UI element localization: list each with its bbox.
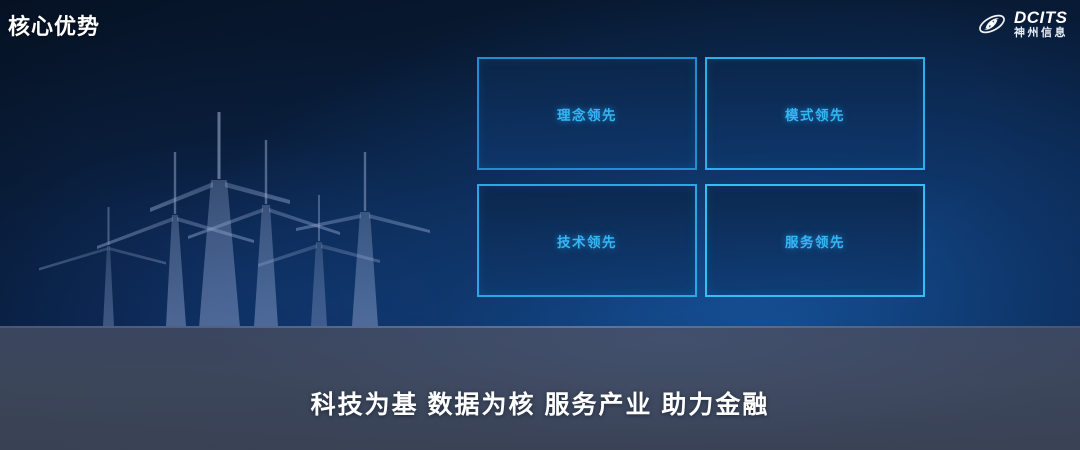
- advantage-card-4[interactable]: 服务领先: [705, 184, 925, 297]
- dcits-swoosh-icon: [977, 11, 1007, 37]
- brand-logo: DCITS 神州信息: [977, 9, 1068, 39]
- slide-root: 核心优势 DCITS 神州信息 理念领先 模式领先 技术领先 服务领先 科技为基…: [0, 0, 1080, 450]
- advantage-card-1[interactable]: 理念领先: [477, 57, 697, 170]
- advantage-card-grid: 理念领先 模式领先 技术领先 服务领先: [477, 57, 925, 297]
- advantage-card-3-label: 技术领先: [557, 231, 617, 251]
- slogan-text: 科技为基 数据为核 服务产业 助力金融: [0, 385, 1080, 421]
- logo-english: DCITS: [1014, 9, 1068, 26]
- page-title: 核心优势: [8, 9, 100, 41]
- advantage-card-2-label: 模式领先: [785, 104, 845, 124]
- advantage-card-3[interactable]: 技术领先: [477, 184, 697, 297]
- logo-wordmark: DCITS 神州信息: [1014, 9, 1068, 39]
- advantage-card-2[interactable]: 模式领先: [705, 57, 925, 170]
- advantage-card-4-label: 服务领先: [785, 231, 845, 251]
- logo-chinese: 神州信息: [1014, 28, 1068, 39]
- horizon-line: [0, 326, 1080, 328]
- advantage-card-1-label: 理念领先: [557, 104, 617, 124]
